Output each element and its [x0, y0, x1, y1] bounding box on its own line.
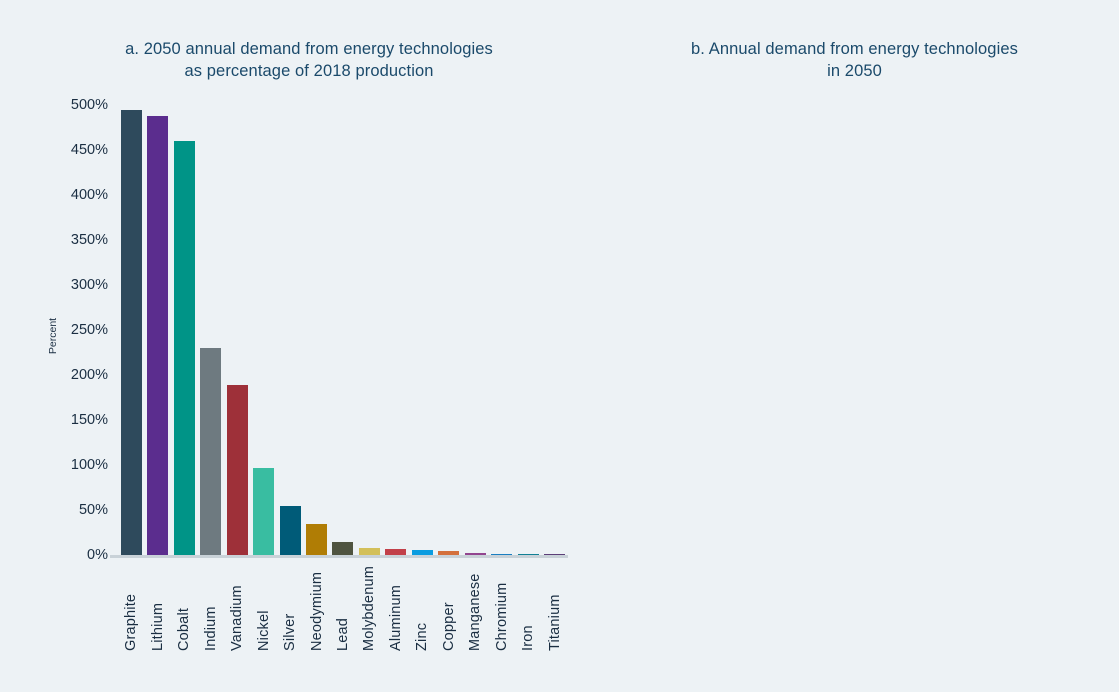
bar-slot [462, 105, 488, 555]
y-tick-a: 400% [71, 187, 108, 203]
y-tick-a: 0% [87, 547, 108, 563]
y-tick-a: 450% [71, 142, 108, 158]
x-tick-label-lead: Lead [335, 566, 351, 651]
x-label-slot: Copper [436, 566, 462, 651]
bar-molybdenum [359, 548, 380, 555]
bar-slot [356, 105, 382, 555]
bar-slot [303, 105, 329, 555]
x-label-slot: Titanium [542, 566, 568, 651]
x-label-slot: Aluminum [383, 566, 409, 651]
bar-slot [197, 105, 223, 555]
x-tick-label-graphite: Graphite [123, 566, 139, 651]
x-label-slot: Vanadium [224, 566, 250, 651]
bar-slot [489, 105, 515, 555]
y-tick-a: 150% [71, 412, 108, 428]
bar-aluminum [385, 549, 406, 555]
x-tick-label-silver: Silver [282, 566, 298, 651]
x-tick-label-titanium: Titanium [547, 566, 563, 651]
x-label-slot: Manganese [462, 566, 488, 651]
x-label-slot: Lead [330, 566, 356, 651]
x-label-slot: Cobalt [171, 566, 197, 651]
bar-slot [330, 105, 356, 555]
x-label-slot: Neodymium [303, 566, 329, 651]
x-label-slot: Silver [277, 566, 303, 651]
y-tick-a: 100% [71, 457, 108, 473]
chart-b-title: b. Annual demand from energy technologie… [580, 38, 1119, 82]
bar-slot [515, 105, 541, 555]
x-tick-label-aluminum: Aluminum [388, 566, 404, 651]
bar-slot [383, 105, 409, 555]
y-tick-a: 500% [71, 97, 108, 113]
x-label-slot: Lithium [144, 566, 170, 651]
y-tick-a: 250% [71, 322, 108, 338]
bar-neodymium [306, 524, 327, 556]
x-tick-label-molybdenum: Molybdenum [361, 566, 377, 651]
bar-nickel [253, 468, 274, 555]
chart-a-plot-area: Percent 0%50%100%150%200%250%300%350%400… [118, 105, 568, 555]
x-tick-label-zinc: Zinc [414, 566, 430, 651]
figure-root: a. 2050 annual demand from energy techno… [0, 0, 1119, 692]
y-tick-a: 300% [71, 277, 108, 293]
chart-a-y-axis-label: Percent [47, 318, 59, 354]
bar-titanium [544, 554, 565, 555]
chart-a-x-axis-line [110, 555, 568, 558]
bar-lead [332, 542, 353, 556]
x-label-slot: Indium [197, 566, 223, 651]
bar-lithium [147, 116, 168, 555]
chart-panel-a: a. 2050 annual demand from energy techno… [0, 0, 580, 692]
bar-manganese [465, 553, 486, 555]
bar-slot [409, 105, 435, 555]
x-tick-label-indium: Indium [203, 566, 219, 651]
chart-a-x-axis-labels: GraphiteLithiumCobaltIndiumVanadiumNicke… [118, 566, 568, 651]
bar-silver [280, 506, 301, 555]
bar-vanadium [227, 385, 248, 555]
bar-slot [277, 105, 303, 555]
bar-slot [171, 105, 197, 555]
y-tick-a: 350% [71, 232, 108, 248]
x-tick-label-manganese: Manganese [467, 566, 483, 651]
bar-cobalt [174, 141, 195, 555]
x-tick-label-lithium: Lithium [150, 566, 166, 651]
x-tick-label-cobalt: Cobalt [176, 566, 192, 651]
x-label-slot: Nickel [250, 566, 276, 651]
x-label-slot: Zinc [409, 566, 435, 651]
x-tick-label-iron: Iron [520, 566, 536, 651]
x-tick-label-chromium: Chromium [494, 566, 510, 651]
chart-a-bars [118, 105, 568, 555]
bar-slot [224, 105, 250, 555]
bar-slot [118, 105, 144, 555]
chart-panel-b: b. Annual demand from energy technologie… [580, 0, 1119, 692]
x-label-slot: Molybdenum [356, 566, 382, 651]
y-tick-a: 50% [79, 502, 108, 518]
x-label-slot: Chromium [489, 566, 515, 651]
x-tick-label-vanadium: Vanadium [229, 566, 245, 651]
chart-a-title: a. 2050 annual demand from energy techno… [0, 38, 580, 82]
bar-chromium [491, 554, 512, 555]
bar-indium [200, 348, 221, 555]
bar-copper [438, 551, 459, 555]
bar-slot [436, 105, 462, 555]
x-label-slot: Graphite [118, 566, 144, 651]
x-label-slot: Iron [515, 566, 541, 651]
bar-iron [518, 554, 539, 555]
bar-zinc [412, 550, 433, 555]
bar-slot [542, 105, 568, 555]
bar-slot [144, 105, 170, 555]
x-tick-label-copper: Copper [441, 566, 457, 651]
bar-graphite [121, 110, 142, 555]
bar-slot [250, 105, 276, 555]
x-tick-label-nickel: Nickel [256, 566, 272, 651]
y-tick-a: 200% [71, 367, 108, 383]
x-tick-label-neodymium: Neodymium [309, 566, 325, 651]
